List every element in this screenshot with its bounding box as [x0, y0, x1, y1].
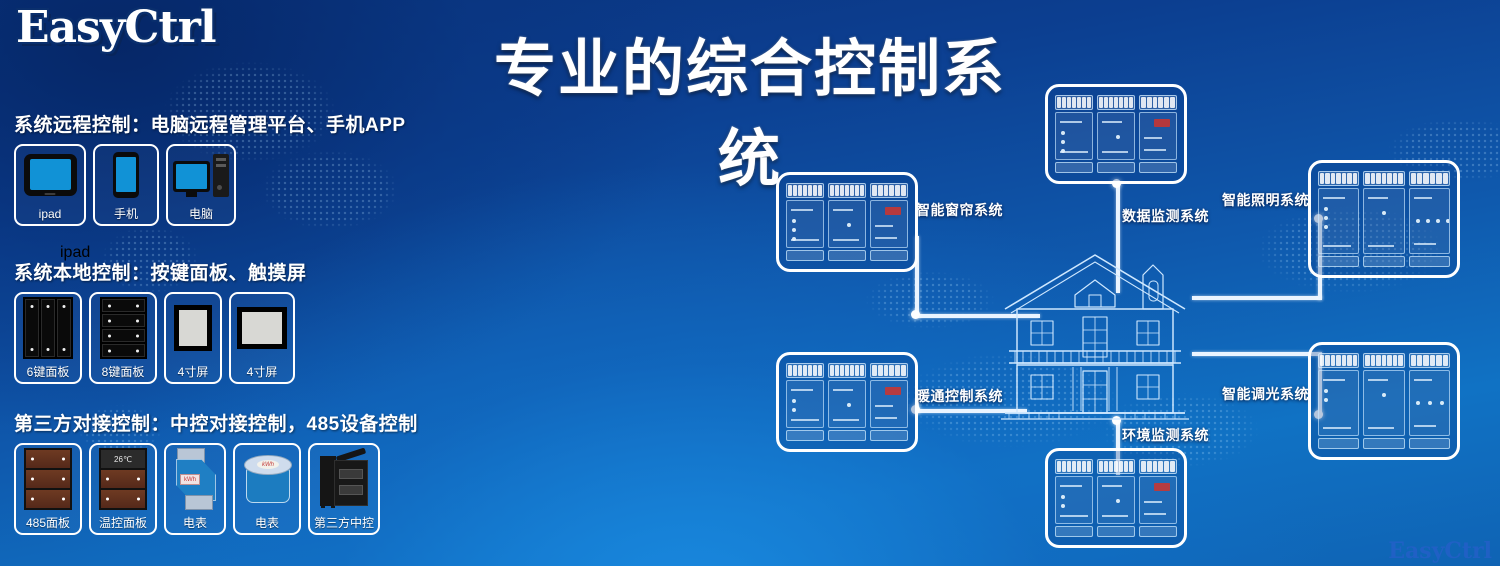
card-caption: 第三方中控	[314, 516, 374, 530]
din-module	[1097, 95, 1135, 173]
module-foot	[786, 430, 824, 441]
controller-box-dimming[interactable]	[1308, 342, 1460, 460]
card-caption: 8键面板	[102, 365, 145, 379]
module-foot	[1318, 438, 1359, 449]
din-module	[1097, 459, 1135, 537]
terminal-block	[1055, 95, 1093, 110]
din-module	[1139, 459, 1177, 537]
device-card-row: 6键面板 8键面板 4寸屏 4寸屏	[14, 292, 307, 384]
din-module	[828, 183, 866, 261]
section-remote-control: 系统远程控制：电脑远程管理平台、手机APP ipad 手机	[14, 110, 406, 226]
din-module	[1409, 171, 1450, 267]
terminal-block	[1409, 353, 1450, 368]
four-inch-screen-icon	[166, 294, 220, 362]
card-caption: 4寸屏	[247, 365, 278, 379]
four-inch-screen-wide-icon	[231, 294, 293, 362]
terminal-block	[1139, 459, 1177, 474]
controller-box-data-monitor[interactable]	[1045, 84, 1187, 184]
module-face	[1097, 112, 1135, 160]
eight-key-panel-icon	[91, 294, 155, 362]
desktop-computer-icon	[168, 146, 234, 204]
terminal-block	[870, 363, 908, 378]
terminal-block	[1055, 459, 1093, 474]
system-topology-diagram: 智能窗帘系统 数据监测系统 智能照明系统 暖通控制系统 环境监测系统 智能调光系…	[740, 0, 1500, 566]
device-card-third-party-controller[interactable]: 第三方中控	[308, 443, 380, 535]
terminal-block	[1139, 95, 1177, 110]
module-foot	[1409, 438, 1450, 449]
status-led-red	[885, 387, 901, 395]
module-foot	[1318, 256, 1359, 267]
card-caption: 电脑	[189, 207, 213, 221]
din-module	[1139, 95, 1177, 173]
module-foot	[1055, 526, 1093, 537]
terminal-block	[1097, 95, 1135, 110]
module-face	[786, 380, 824, 428]
module-foot	[828, 250, 866, 261]
din-module	[1055, 95, 1093, 173]
controller-box-environment[interactable]	[1045, 448, 1187, 548]
watermark-logo: EasyCtrl	[1388, 538, 1492, 564]
module-foot	[1139, 162, 1177, 173]
connector-node	[911, 310, 920, 319]
section-third-party-control: 第三方对接控制：中控对接控制，485设备控制 485面板 26℃ 温控面板	[14, 409, 418, 535]
device-card-6key-panel[interactable]: 6键面板	[14, 292, 82, 384]
section-local-control: 系统本地控制：按键面板、触摸屏 6键面板 8键面板 4寸屏	[14, 258, 307, 384]
din-module	[870, 363, 908, 441]
controller-box-lighting[interactable]	[1308, 160, 1460, 278]
diagram-label-curtain: 智能窗帘系统	[916, 200, 1003, 220]
module-face	[870, 200, 908, 248]
electric-meter-icon: kWh	[166, 445, 224, 513]
connector-line	[1192, 352, 1322, 356]
module-foot	[1139, 526, 1177, 537]
card-caption: 电表	[255, 516, 279, 530]
device-card-row: 485面板 26℃ 温控面板 kWh	[14, 443, 418, 535]
terminal-block	[1363, 171, 1404, 186]
terminal-block	[1409, 171, 1450, 186]
thermostat-display: 26℃	[101, 450, 145, 468]
thermostat-panel-icon: 26℃	[91, 445, 155, 513]
round-electric-meter-icon: kWh	[235, 445, 299, 513]
device-card-computer[interactable]: 电脑	[166, 144, 236, 226]
section-heading: 系统本地控制：按键面板、触摸屏	[14, 258, 307, 285]
module-face	[1409, 188, 1450, 254]
third-party-controller-icon	[310, 445, 378, 513]
module-face	[1363, 188, 1404, 254]
din-module	[786, 183, 824, 261]
module-foot	[1097, 162, 1135, 173]
meter-unit-label: kWh	[180, 474, 200, 485]
module-foot	[1409, 256, 1450, 267]
terminal-block	[1097, 459, 1135, 474]
device-card-thermostat-panel[interactable]: 26℃ 温控面板	[89, 443, 157, 535]
card-caption: 电表	[183, 516, 207, 530]
controller-box-curtain[interactable]	[776, 172, 918, 272]
section-heading: 第三方对接控制：中控对接控制，485设备控制	[14, 409, 418, 436]
device-card-4inch-screen-1[interactable]: 4寸屏	[164, 292, 222, 384]
module-face	[1318, 188, 1359, 254]
din-module	[1363, 171, 1404, 267]
device-card-meter-round[interactable]: kWh 电表	[233, 443, 301, 535]
card-caption: 温控面板	[99, 516, 147, 530]
card-caption: 手机	[114, 207, 138, 221]
module-face	[870, 380, 908, 428]
module-foot	[870, 430, 908, 441]
device-card-row: ipad 手机 电脑	[14, 144, 406, 226]
diagram-label-hvac: 暖通控制系统	[916, 386, 1003, 406]
module-foot	[786, 250, 824, 261]
module-foot	[1097, 526, 1135, 537]
module-face	[1318, 370, 1359, 436]
six-key-panel-icon	[16, 294, 80, 362]
smartphone-icon	[95, 146, 157, 204]
status-led-red	[885, 207, 901, 215]
connector-line	[1192, 296, 1322, 300]
terminal-block	[786, 183, 824, 198]
diagram-label-lighting: 智能照明系统	[1222, 190, 1309, 210]
diagram-label-dimming: 智能调光系统	[1222, 384, 1309, 404]
module-face	[828, 200, 866, 248]
terminal-block	[828, 183, 866, 198]
meter-unit-label: kWh	[257, 460, 279, 469]
status-led-red	[1154, 483, 1170, 491]
din-module	[1363, 353, 1404, 449]
diagram-label-data-monitor: 数据监测系统	[1122, 206, 1209, 226]
module-face	[1055, 112, 1093, 160]
din-module	[1318, 171, 1359, 267]
device-card-4inch-screen-2[interactable]: 4寸屏	[229, 292, 295, 384]
module-face	[1409, 370, 1450, 436]
module-foot	[870, 250, 908, 261]
device-card-485-panel[interactable]: 485面板	[14, 443, 82, 535]
module-face	[1139, 476, 1177, 524]
module-face	[786, 200, 824, 248]
brand-logo: EasyCtrl	[16, 2, 216, 53]
device-card-8key-panel[interactable]: 8键面板	[89, 292, 157, 384]
module-foot	[828, 430, 866, 441]
module-foot	[1055, 162, 1093, 173]
din-module	[828, 363, 866, 441]
poster-canvas: EasyCtrl 专业的综合控制系统 系统远程控制：电脑远程管理平台、手机APP…	[0, 0, 1500, 566]
module-foot	[1363, 438, 1404, 449]
device-card-phone[interactable]: 手机	[93, 144, 159, 226]
device-card-meter-din[interactable]: kWh 电表	[164, 443, 226, 535]
card-caption: 485面板	[26, 516, 70, 530]
card-caption: 4寸屏	[178, 365, 209, 379]
module-foot	[1363, 256, 1404, 267]
card-caption: ipad	[39, 207, 62, 221]
terminal-block	[828, 363, 866, 378]
din-module	[786, 363, 824, 441]
rs485-panel-icon	[16, 445, 80, 513]
terminal-block	[1318, 171, 1359, 186]
din-module	[1055, 459, 1093, 537]
status-led-red	[1154, 119, 1170, 127]
module-face	[1139, 112, 1177, 160]
tablet-icon	[16, 146, 84, 204]
diagram-label-environment: 环境监测系统	[1122, 425, 1209, 445]
module-face	[828, 380, 866, 428]
controller-box-hvac[interactable]	[776, 352, 918, 452]
din-module	[870, 183, 908, 261]
module-face	[1055, 476, 1093, 524]
terminal-block	[786, 363, 824, 378]
din-module	[1318, 353, 1359, 449]
terminal-block	[1318, 353, 1359, 368]
terminal-block	[870, 183, 908, 198]
device-card-ipad[interactable]: ipad	[14, 144, 86, 226]
module-face	[1363, 370, 1404, 436]
din-module	[1409, 353, 1450, 449]
villa-house-icon	[995, 247, 1195, 427]
module-face	[1097, 476, 1135, 524]
card-caption: 6键面板	[27, 365, 70, 379]
terminal-block	[1363, 353, 1404, 368]
section-heading: 系统远程控制：电脑远程管理平台、手机APP	[14, 110, 406, 137]
